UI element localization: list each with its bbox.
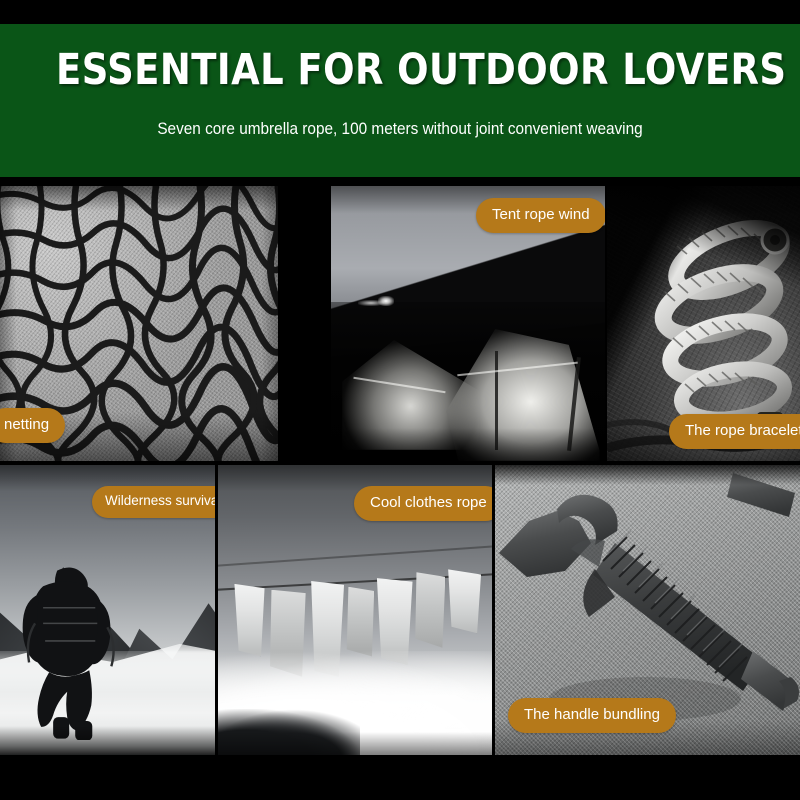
photo-grid: netting Tent rope wind <box>0 0 800 800</box>
label-pill-netting[interactable]: netting <box>0 408 65 443</box>
label-pill-tent-rope-wind[interactable]: Tent rope wind <box>476 198 605 233</box>
product-poster: ESSENTIAL FOR OUTDOOR LOVERS Seven core … <box>0 0 800 800</box>
label-pill-rope-bracelet[interactable]: The rope bracelet <box>669 414 800 449</box>
label-pill-handle-bundling[interactable]: The handle bundling <box>508 698 676 733</box>
label-pill-cool-clothes-rope[interactable]: Cool clothes rope <box>354 486 492 521</box>
panel-handle-bundling[interactable]: The handle bundling <box>495 465 800 755</box>
panel-netting[interactable]: netting <box>0 186 278 461</box>
panel-wilderness-survival[interactable]: Wilderness survival <box>0 465 215 755</box>
panel-tent-rope-wind[interactable]: Tent rope wind <box>331 186 605 461</box>
panel-rope-bracelet[interactable]: The rope bracelet <box>607 186 800 461</box>
panel-cool-clothes-rope[interactable]: Cool clothes rope <box>218 465 492 755</box>
label-pill-wilderness-survival[interactable]: Wilderness survival <box>92 486 215 518</box>
